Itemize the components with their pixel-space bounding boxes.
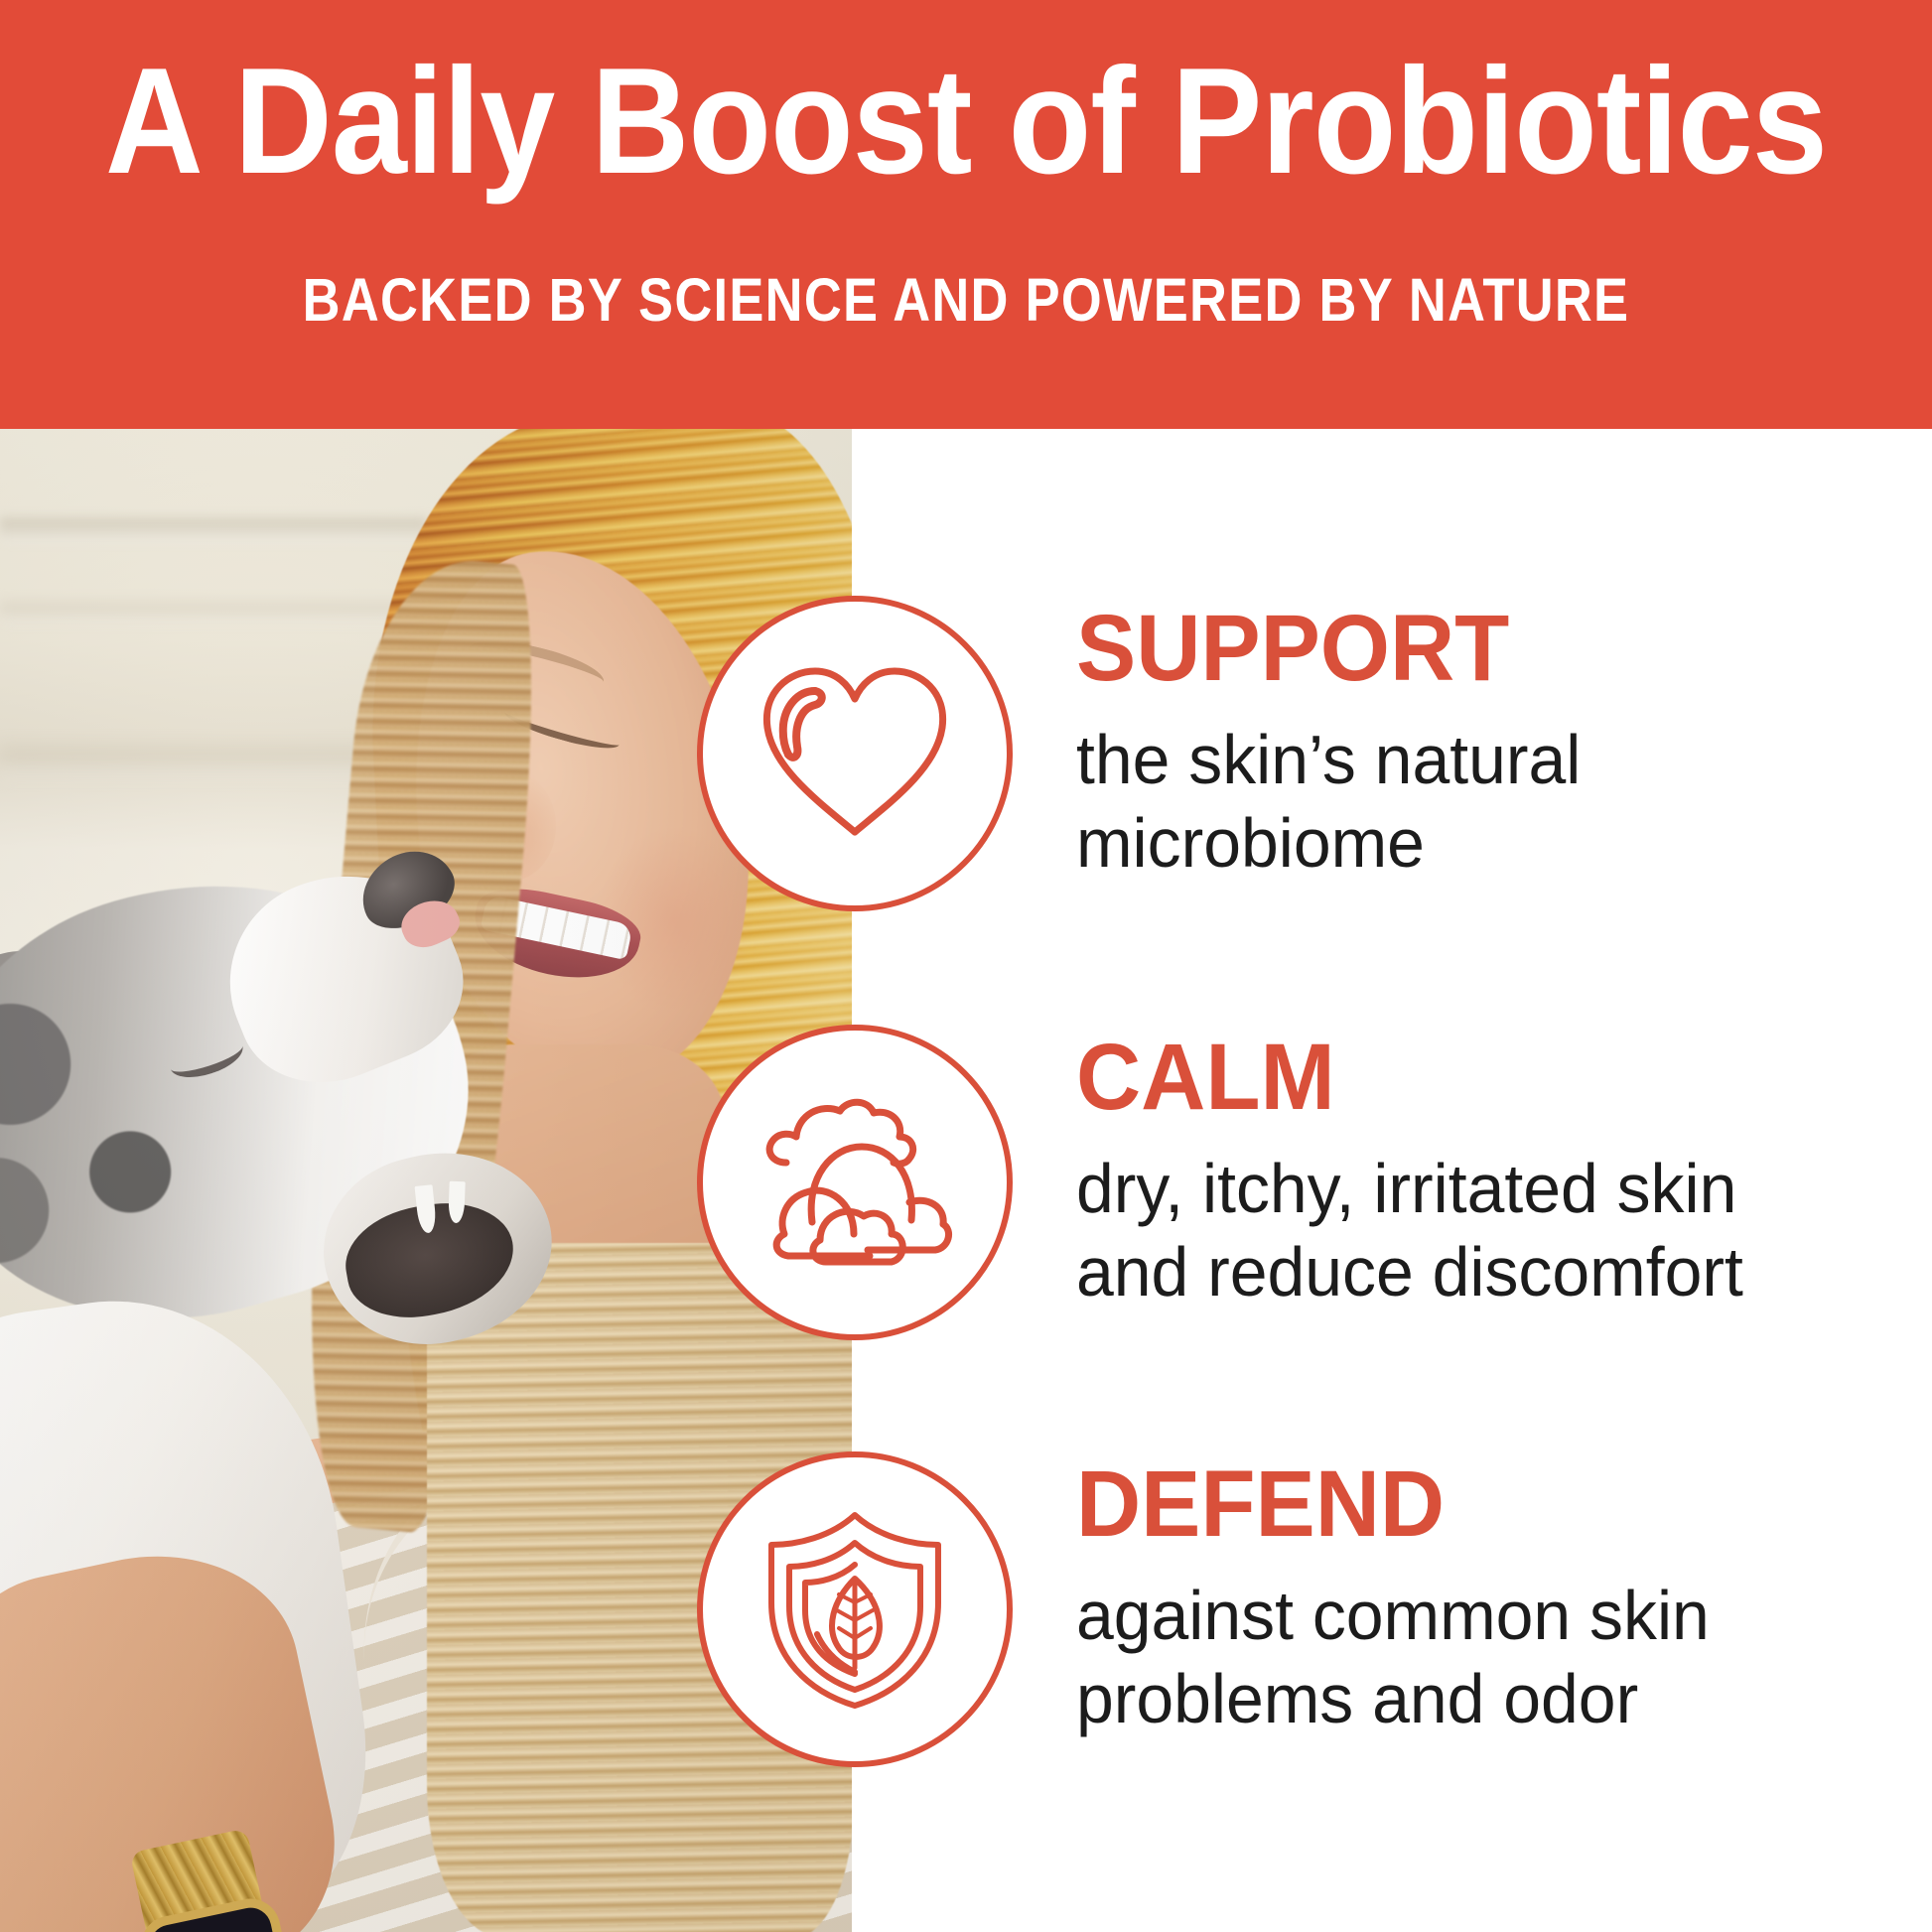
benefit-row: SUPPORT the skin’s natural microbiome (0, 596, 1932, 923)
benefit-text-block: DEFEND against common skin problems and … (1076, 1457, 1880, 1740)
shield-leaf-icon (697, 1451, 1013, 1767)
clouds-icon (697, 1025, 1013, 1340)
benefit-description: dry, itchy, irritated skin and reduce di… (1076, 1147, 1857, 1313)
benefit-row: DEFEND against common skin problems and … (0, 1451, 1932, 1779)
benefit-row: CALM dry, itchy, irritated skin and redu… (0, 1025, 1932, 1352)
benefit-description: against common skin problems and odor (1076, 1574, 1857, 1740)
benefit-text-block: SUPPORT the skin’s natural microbiome (1076, 602, 1880, 885)
heart-icon (697, 596, 1013, 911)
benefit-text-block: CALM dry, itchy, irritated skin and redu… (1076, 1031, 1880, 1313)
benefit-description: the skin’s natural microbiome (1076, 718, 1857, 885)
promo-graphic: A Daily Boost of Probiotics BACKED BY SC… (0, 0, 1932, 1932)
header-subtitle: BACKED BY SCIENCE AND POWERED BY NATURE (135, 270, 1797, 331)
benefit-title: DEFEND (1076, 1457, 1841, 1552)
header-title: A Daily Boost of Probiotics (96, 46, 1835, 197)
benefits-list: SUPPORT the skin’s natural microbiome (0, 429, 1932, 1932)
benefit-title: CALM (1076, 1031, 1841, 1125)
header-band: A Daily Boost of Probiotics BACKED BY SC… (0, 0, 1932, 429)
benefit-title: SUPPORT (1076, 602, 1841, 696)
